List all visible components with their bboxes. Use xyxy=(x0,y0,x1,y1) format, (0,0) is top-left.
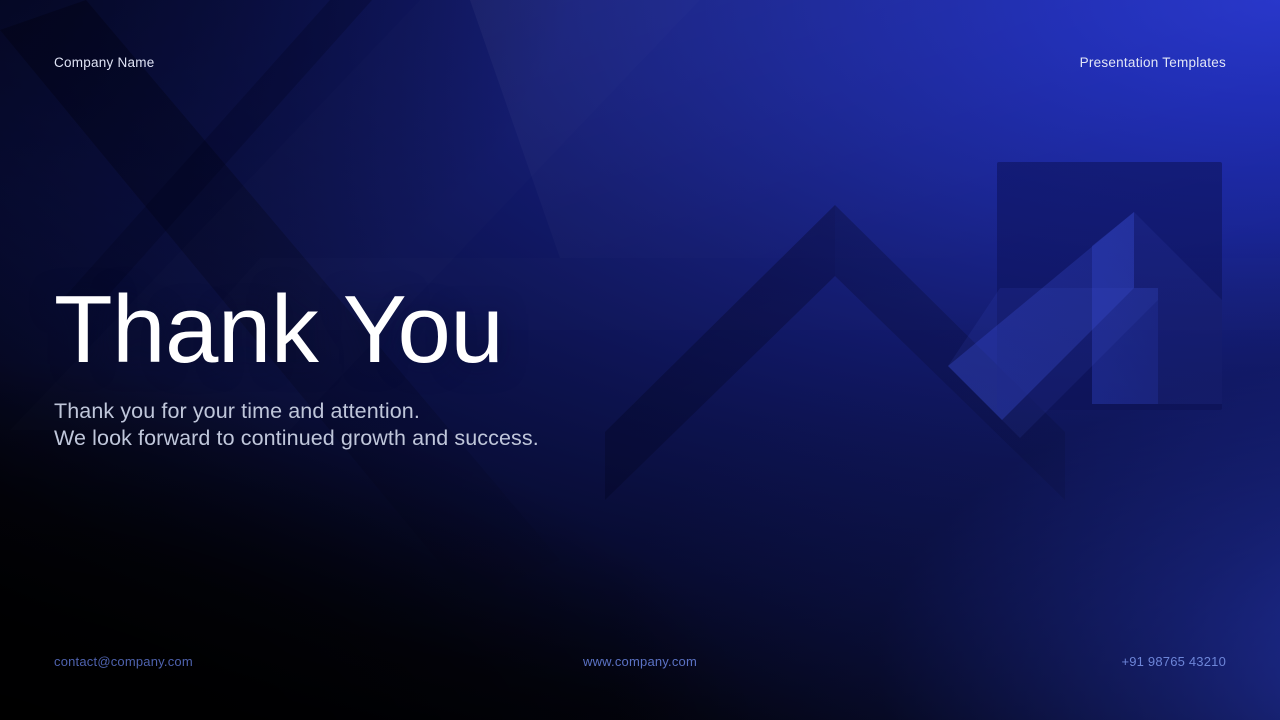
page-title: Thank You xyxy=(54,282,539,378)
presentation-templates-label: Presentation Templates xyxy=(1080,55,1226,70)
company-name-label: Company Name xyxy=(54,55,155,70)
subtitle-line-2: We look forward to continued growth and … xyxy=(54,425,539,452)
main-content: Thank You Thank you for your time and at… xyxy=(54,282,539,451)
phone-number-link[interactable]: +91 98765 43210 xyxy=(835,654,1226,669)
website-link[interactable]: www.company.com xyxy=(445,654,836,669)
subtitle-line-1: Thank you for your time and attention. xyxy=(54,398,539,425)
thank-you-slide: Company Name Presentation Templates Than… xyxy=(0,0,1280,720)
slide-header: Company Name Presentation Templates xyxy=(0,51,1280,73)
contact-email-link[interactable]: contact@company.com xyxy=(54,654,445,669)
slide-footer: contact@company.com www.company.com +91 … xyxy=(0,652,1280,670)
subtitle-block: Thank you for your time and attention. W… xyxy=(54,398,539,451)
